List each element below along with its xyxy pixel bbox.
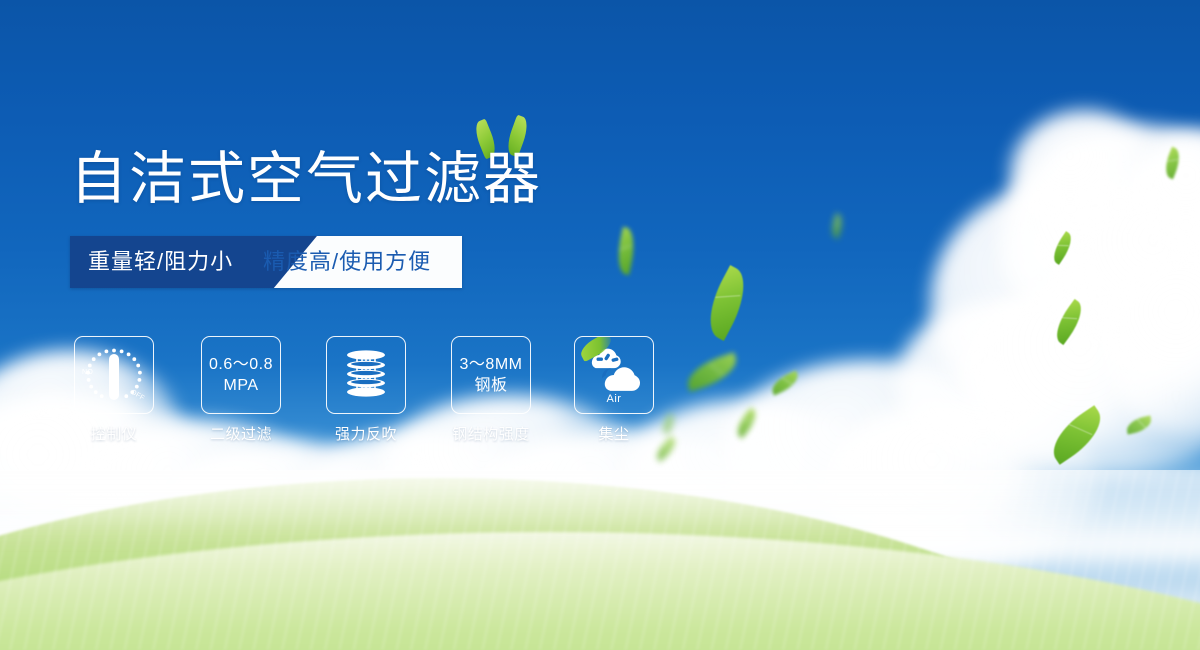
feature-item-backblow[interactable]: 强力反吹: [322, 336, 410, 444]
grass-highlight: [0, 470, 1200, 540]
grass-field: [0, 470, 1200, 650]
feature-item-pressure[interactable]: 0.6～0.8MPA 二级过滤: [197, 336, 285, 444]
feature-caption: 集尘: [570, 423, 658, 444]
page-title: 自洁式空气过滤器: [70, 146, 542, 212]
subtitle-right-text: 精度高/使用方便: [263, 236, 431, 288]
gauge-icon: NO OFF: [82, 343, 146, 407]
feature-icon-box: NO OFF: [74, 336, 154, 414]
feature-item-dust[interactable]: Air 集尘: [570, 336, 658, 444]
air-label: Air: [583, 393, 645, 405]
feature-caption: 二级过滤: [197, 423, 285, 444]
hero-banner: 自洁式空气过滤器 重量轻/阻力小 精度高/使用方便: [0, 0, 1200, 650]
gauge-needle: [109, 354, 119, 400]
feature-icon-box: 0.6～0.8MPA: [201, 336, 281, 414]
subtitle-bar: 重量轻/阻力小 精度高/使用方便: [70, 236, 462, 288]
feature-icon-box: [326, 336, 406, 414]
feature-value-text: 3～8MM钢板: [452, 354, 530, 396]
feature-item-steel[interactable]: 3～8MM钢板 钢结构强度: [447, 336, 535, 444]
feature-caption: 控制仪: [70, 423, 158, 444]
feature-item-control-gauge[interactable]: NO OFF 控制仪: [70, 336, 158, 444]
gauge-on-label: NO: [82, 369, 93, 376]
feature-icon-box: Air: [574, 336, 654, 414]
feature-icon-box: 3～8MM钢板: [451, 336, 531, 414]
feature-list: NO OFF 控制仪 0.6～0.8MPA 二级过滤: [70, 336, 690, 446]
filter-coil-icon: [338, 347, 394, 403]
subtitle-left-text: 重量轻/阻力小: [88, 236, 233, 288]
feature-caption: 强力反吹: [322, 423, 410, 444]
feature-value-text: 0.6～0.8MPA: [202, 354, 280, 396]
air-cloud-icon: Air: [583, 345, 645, 401]
feature-caption: 钢结构强度: [447, 423, 535, 444]
